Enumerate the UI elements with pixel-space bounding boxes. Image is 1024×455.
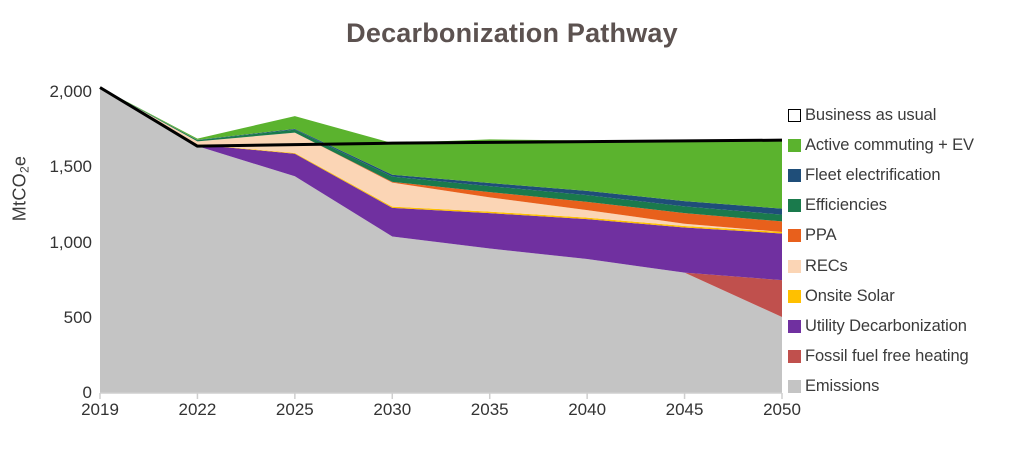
legend-item-label: Fleet electrification <box>805 166 940 185</box>
legend-item-label: PPA <box>805 226 837 245</box>
business-as-usual-line <box>100 87 782 146</box>
legend-swatch-icon <box>788 139 801 152</box>
legend-item[interactable]: Active commuting + EV <box>788 130 1024 160</box>
x-axis-tick-label: 2030 <box>373 400 411 420</box>
legend-item-label: Emissions <box>805 377 879 396</box>
legend-item[interactable]: Utility Decarbonization <box>788 311 1024 341</box>
legend-item-label: Efficiencies <box>805 196 887 215</box>
legend-item[interactable]: Business as usual <box>788 100 1024 130</box>
legend-item-label: Business as usual <box>805 106 936 125</box>
legend-item-label: Fossil fuel free heating <box>805 347 969 366</box>
legend-item-label: Onsite Solar <box>805 287 895 306</box>
legend-swatch-icon <box>788 199 801 212</box>
legend-item[interactable]: Fossil fuel free heating <box>788 342 1024 372</box>
x-axis-tick-label: 2045 <box>666 400 704 420</box>
x-axis-tick-label: 2019 <box>81 400 119 420</box>
legend-swatch-icon <box>788 109 801 122</box>
legend-item[interactable]: Efficiencies <box>788 191 1024 221</box>
legend-item-label: Active commuting + EV <box>805 136 974 155</box>
x-axis-tick-label: 2040 <box>568 400 606 420</box>
stacked-areas-group <box>100 87 782 393</box>
legend-swatch-icon <box>788 320 801 333</box>
x-axis-tick-label: 2050 <box>763 400 801 420</box>
legend-swatch-icon <box>788 290 801 303</box>
legend-item-label: RECs <box>805 257 848 276</box>
legend-swatch-icon <box>788 260 801 273</box>
legend-item[interactable]: Emissions <box>788 372 1024 402</box>
x-axis-tick-label: 2035 <box>471 400 509 420</box>
chart-legend: Business as usualActive commuting + EVFl… <box>788 100 1024 402</box>
legend-swatch-icon <box>788 229 801 242</box>
legend-item-label: Utility Decarbonization <box>805 317 967 336</box>
x-axis-tick-label: 2022 <box>179 400 217 420</box>
chart-root: Decarbonization Pathway MtCO2e 05001,000… <box>0 0 1024 455</box>
legend-swatch-icon <box>788 169 801 182</box>
legend-item[interactable]: RECs <box>788 251 1024 281</box>
legend-item[interactable]: PPA <box>788 221 1024 251</box>
legend-swatch-icon <box>788 380 801 393</box>
x-axis-tick-label: 2025 <box>276 400 314 420</box>
x-axis-tick-marks <box>100 393 782 399</box>
legend-swatch-icon <box>788 350 801 363</box>
legend-item[interactable]: Onsite Solar <box>788 281 1024 311</box>
legend-item[interactable]: Fleet electrification <box>788 160 1024 190</box>
